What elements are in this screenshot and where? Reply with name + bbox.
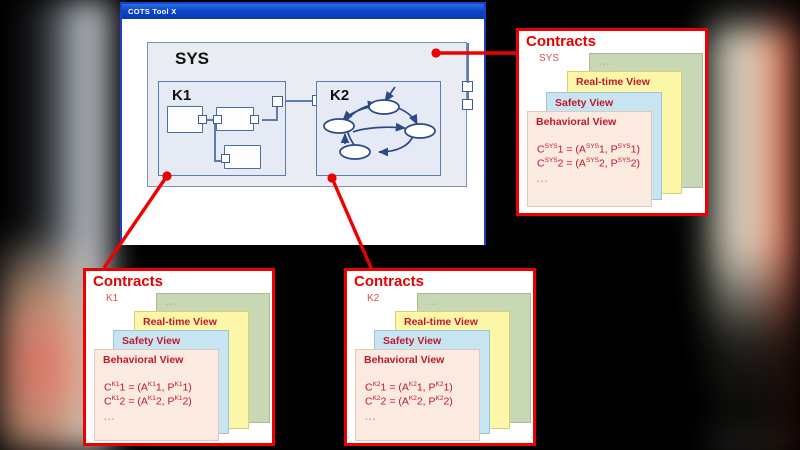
contract-layer-realtime-label: Real-time View xyxy=(143,316,217,328)
card-subject: SYS xyxy=(539,53,559,64)
k2-state-machine-diagram xyxy=(317,82,442,177)
contract-layer-behavioral-label: Behavioral View xyxy=(364,354,444,366)
card-subject: K2 xyxy=(367,293,379,304)
contract-layer-realtime-label: Real-time View xyxy=(404,316,478,328)
contract-layer-green-label: ... xyxy=(427,297,438,308)
card-title: Contracts xyxy=(354,273,424,290)
k1-port-2[interactable] xyxy=(213,115,222,124)
contracts-card-k2[interactable]: Contracts K2 ... Real-time View Safety V… xyxy=(344,268,536,446)
k1-port-external[interactable] xyxy=(272,96,283,107)
k1-port-3[interactable] xyxy=(250,115,259,124)
k2-block[interactable]: K2 xyxy=(316,81,441,176)
k1-port-1[interactable] xyxy=(198,115,207,124)
diagram-canvas[interactable]: SYS K1 xyxy=(122,19,484,245)
screenshot-stage: COTS Tool X SYS K1 xyxy=(0,0,800,450)
contract-ellipsis: ... xyxy=(104,412,115,423)
contract-layer-green-label: ... xyxy=(166,297,177,308)
window-title: COTS Tool X xyxy=(128,7,177,16)
contract-layer-safety-label: Safety View xyxy=(383,335,441,347)
contract-layer-green-label: ... xyxy=(599,57,610,68)
contract-formula-2: CK22 = (AK22, PK22) xyxy=(365,392,453,409)
contract-layer-behavioral[interactable]: Behavioral View CSYS1 = (ASYS1, PSYS1) C… xyxy=(527,111,652,207)
card-title: Contracts xyxy=(526,33,596,50)
card-title: Contracts xyxy=(93,273,163,290)
contract-layer-behavioral[interactable]: Behavioral View CK21 = (AK21, PK21) CK22… xyxy=(355,349,480,441)
contract-formula-2: CK12 = (AK12, PK12) xyxy=(104,392,192,409)
k1-port-4[interactable] xyxy=(221,154,230,163)
sys-block[interactable]: SYS K1 xyxy=(147,42,467,187)
k1-block-label: K1 xyxy=(172,87,191,104)
contract-layer-safety-label: Safety View xyxy=(555,97,613,109)
contract-layer-behavioral-label: Behavioral View xyxy=(103,354,183,366)
contract-ellipsis: ... xyxy=(365,412,376,423)
contract-layer-behavioral[interactable]: Behavioral View CK11 = (AK11, PK11) CK12… xyxy=(94,349,219,441)
window-titlebar[interactable]: COTS Tool X xyxy=(122,4,484,19)
card-subject: K1 xyxy=(106,293,118,304)
contract-ellipsis: ... xyxy=(537,174,548,185)
contract-layer-realtime-label: Real-time View xyxy=(576,76,650,88)
k1-block[interactable]: K1 xyxy=(158,81,286,176)
contracts-card-sys[interactable]: Contracts SYS ... Real-time View Safety … xyxy=(516,28,708,216)
cots-tool-window[interactable]: COTS Tool X SYS K1 xyxy=(120,2,486,245)
sys-port-rail-top xyxy=(467,43,469,83)
contract-layer-behavioral-label: Behavioral View xyxy=(536,116,616,128)
sys-block-label: SYS xyxy=(175,49,209,69)
contract-layer-safety-label: Safety View xyxy=(122,335,180,347)
contract-formula-2: CSYS2 = (ASYS2, PSYS2) xyxy=(537,154,640,171)
contracts-card-k1[interactable]: Contracts K1 ... Real-time View Safety V… xyxy=(83,268,275,446)
sys-port-2[interactable] xyxy=(462,99,473,110)
